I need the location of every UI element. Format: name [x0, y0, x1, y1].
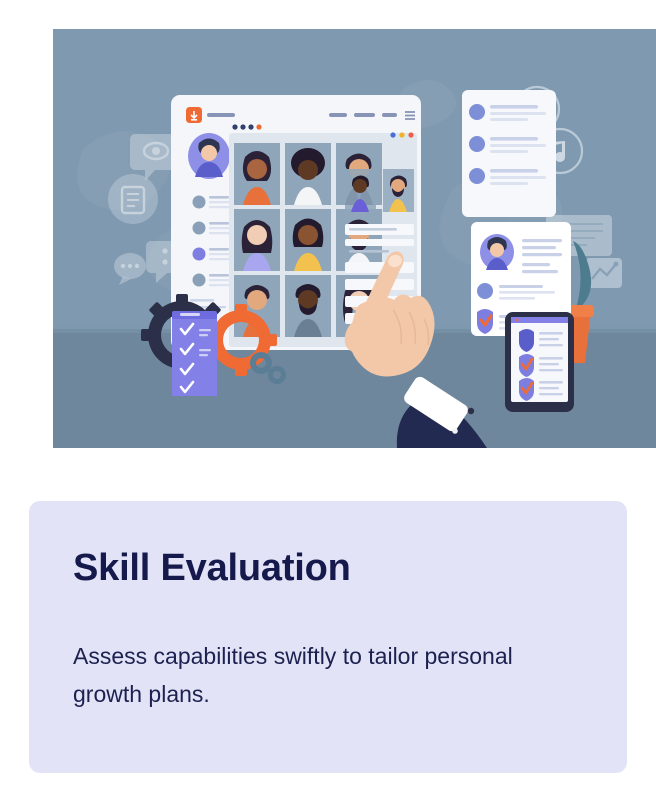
- card-description: Assess capabilities swiftly to tailor pe…: [73, 637, 583, 713]
- portrait-tile: [285, 143, 331, 205]
- portrait-tile: [285, 209, 331, 271]
- chart-icon: [586, 258, 622, 288]
- tablet-device: [505, 312, 574, 412]
- browser-nav: [329, 113, 397, 117]
- card-title: Skill Evaluation: [73, 545, 583, 591]
- feature-card-page: Flat illustration of a hand pointing at …: [0, 0, 656, 793]
- document-icon: [108, 174, 158, 224]
- portrait-tile: [234, 209, 280, 271]
- recruitment-scene-svg: [53, 29, 656, 448]
- hero-illustration: Flat illustration of a hand pointing at …: [53, 29, 656, 448]
- profile-list-card: [462, 90, 556, 217]
- logo-text: [207, 113, 235, 117]
- traffic-lights: [390, 132, 413, 137]
- checklist-panel: [172, 311, 217, 396]
- feature-card: Skill Evaluation Assess capabilities swi…: [29, 501, 627, 773]
- portrait-tile: [285, 275, 331, 337]
- portrait-tile: [234, 143, 280, 205]
